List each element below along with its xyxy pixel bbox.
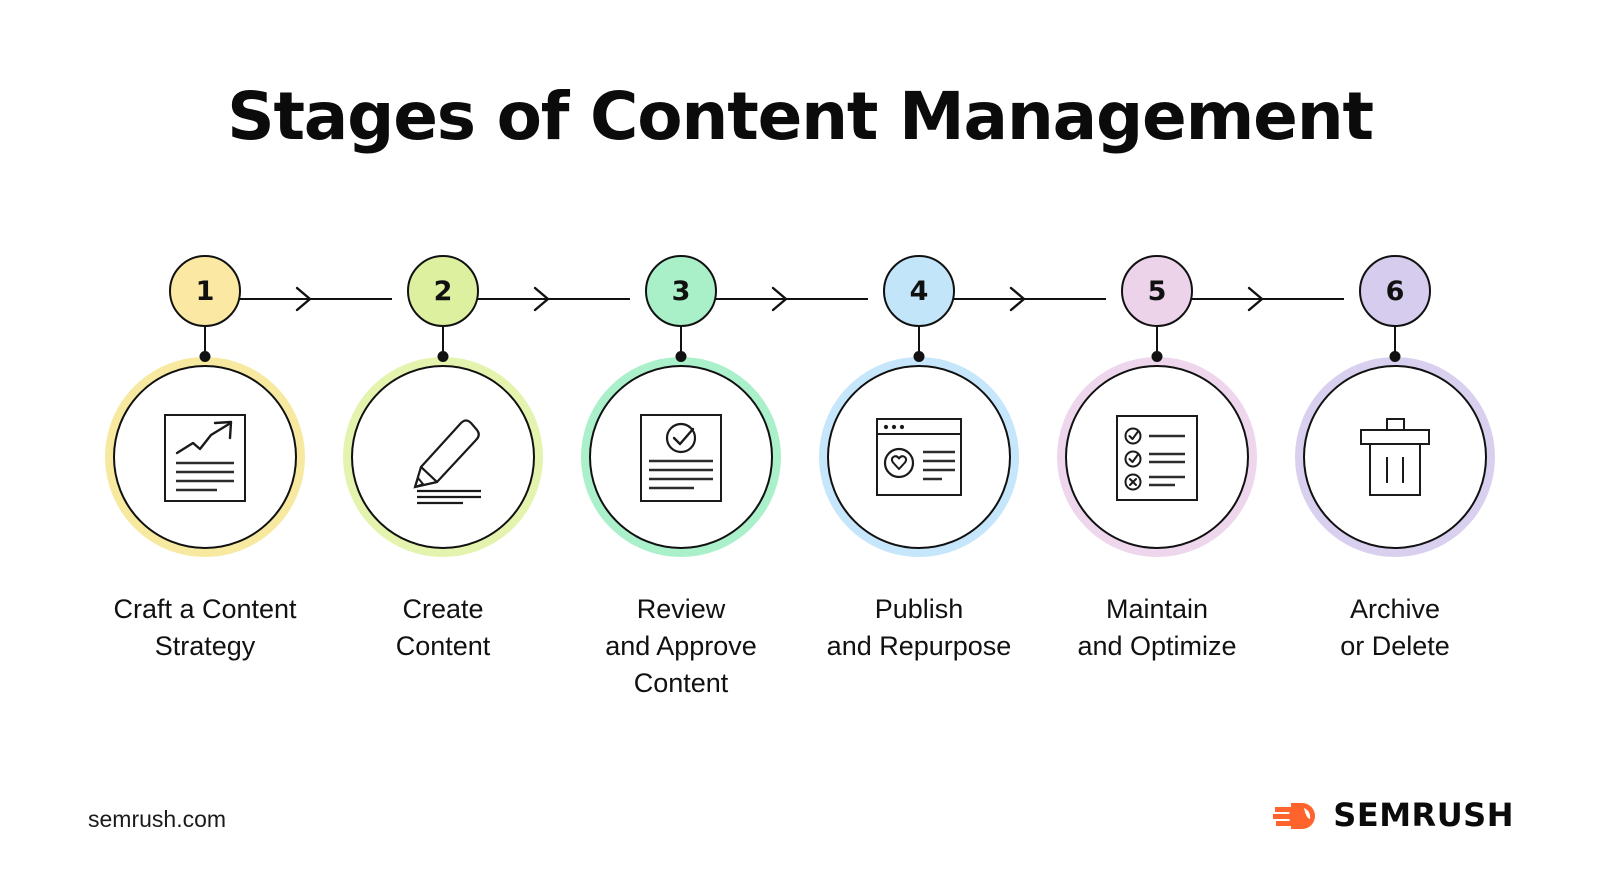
step-icon-circle-4[interactable] xyxy=(827,365,1011,549)
step-number-badge-3[interactable]: 3 xyxy=(645,255,717,327)
document-growth-chart-icon xyxy=(153,405,257,509)
pencil-writing-icon xyxy=(391,405,495,509)
document-check-icon xyxy=(629,405,733,509)
step-icon-circle-1[interactable] xyxy=(113,365,297,549)
step-3[interactable]: 3 xyxy=(562,255,800,702)
step-icon-wrap-2[interactable] xyxy=(343,357,543,557)
semrush-brand-lockup[interactable]: SEMRUSH xyxy=(1273,798,1514,832)
step-stem-1 xyxy=(204,327,206,357)
step-label-5: Maintain and Optimize xyxy=(1077,591,1236,665)
step-number-3: 3 xyxy=(672,276,691,307)
step-label-2: Create Content xyxy=(396,591,491,665)
step-icon-circle-2[interactable] xyxy=(351,365,535,549)
step-icon-wrap-3[interactable] xyxy=(581,357,781,557)
browser-window-heart-icon xyxy=(867,405,971,509)
step-icon-circle-6[interactable] xyxy=(1303,365,1487,549)
step-number-5: 5 xyxy=(1148,276,1167,307)
step-stem-6 xyxy=(1394,327,1396,357)
step-number-4: 4 xyxy=(910,276,929,307)
step-icon-wrap-5[interactable] xyxy=(1057,357,1257,557)
footer-url[interactable]: semrush.com xyxy=(88,806,226,833)
step-5[interactable]: 5 xyxy=(1038,255,1276,665)
infographic-canvas: Stages of Content Management xyxy=(0,0,1600,880)
step-number-1: 1 xyxy=(196,276,215,307)
window-dots xyxy=(884,425,904,429)
checklist-icon xyxy=(1105,405,1209,509)
step-stem-3 xyxy=(680,327,682,357)
step-label-3: Review and Approve Content xyxy=(605,591,757,702)
step-number-badge-2[interactable]: 2 xyxy=(407,255,479,327)
step-number-6: 6 xyxy=(1386,276,1405,307)
semrush-comet-logo-icon xyxy=(1273,798,1319,832)
step-number-badge-1[interactable]: 1 xyxy=(169,255,241,327)
step-label-6: Archive or Delete xyxy=(1340,591,1450,665)
step-6[interactable]: 6 Archive or Delete xyxy=(1276,255,1514,665)
page-title: Stages of Content Management xyxy=(0,78,1600,155)
step-number-2: 2 xyxy=(434,276,453,307)
step-icon-wrap-4[interactable] xyxy=(819,357,1019,557)
step-stem-5 xyxy=(1156,327,1158,357)
trash-can-icon xyxy=(1343,405,1447,509)
step-icon-circle-3[interactable] xyxy=(589,365,773,549)
step-label-1: Craft a Content Strategy xyxy=(113,591,296,665)
step-4[interactable]: 4 xyxy=(800,255,1038,665)
step-stem-4 xyxy=(918,327,920,357)
step-1[interactable]: 1 xyxy=(86,255,324,665)
step-number-badge-4[interactable]: 4 xyxy=(883,255,955,327)
step-number-badge-6[interactable]: 6 xyxy=(1359,255,1431,327)
step-number-badge-5[interactable]: 5 xyxy=(1121,255,1193,327)
step-icon-wrap-1[interactable] xyxy=(105,357,305,557)
semrush-wordmark: SEMRUSH xyxy=(1333,799,1514,831)
step-icon-wrap-6[interactable] xyxy=(1295,357,1495,557)
step-stem-2 xyxy=(442,327,444,357)
steps-row: 1 xyxy=(0,255,1600,725)
step-2[interactable]: 2 xyxy=(324,255,562,665)
step-label-4: Publish and Repurpose xyxy=(827,591,1012,665)
step-icon-circle-5[interactable] xyxy=(1065,365,1249,549)
